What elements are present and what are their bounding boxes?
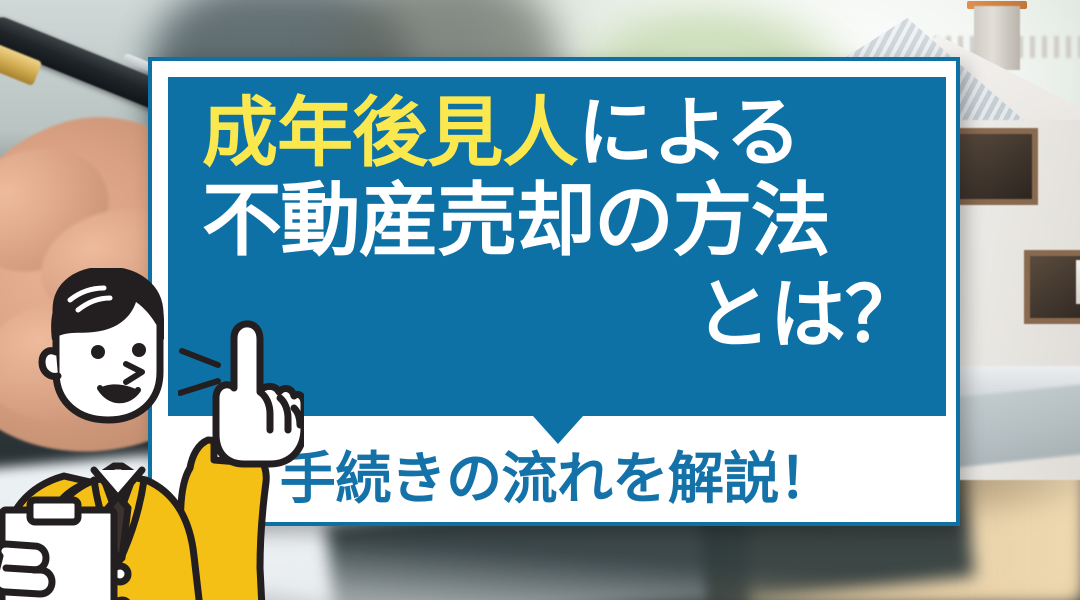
- headline-line-2: 不動産売却の方法: [202, 181, 920, 261]
- headline-line-3: とは？: [202, 277, 920, 353]
- pointing-finger-hand: [216, 324, 304, 464]
- mascot-businessman: [0, 268, 304, 600]
- house-window: [1024, 250, 1080, 324]
- headline-highlight: 成年後見人: [202, 88, 577, 177]
- thumbnail-stage: 成年後見人による 不動産売却の方法 とは？ 手続きの流れを解説！: [0, 0, 1080, 600]
- headline-line-1-rest: による: [577, 88, 800, 177]
- mascot-eye: [91, 345, 105, 359]
- headline-line-1: 成年後見人による: [202, 95, 920, 171]
- mascot-eye: [132, 343, 146, 357]
